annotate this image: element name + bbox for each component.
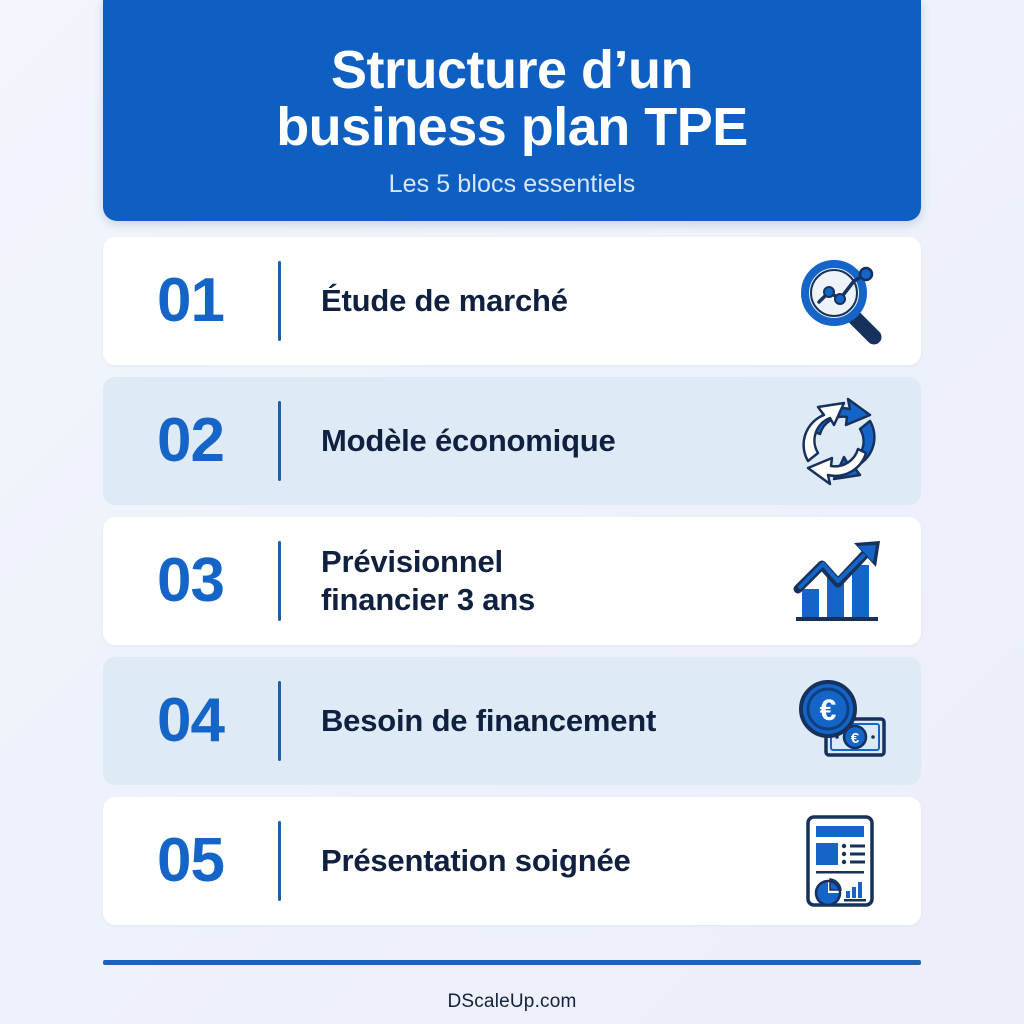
- page-title: Structure d’un business plan TPE: [276, 42, 748, 156]
- row-label: Besoin de financement: [281, 702, 785, 740]
- list-item[interactable]: 03 Prévisionnel financier 3 ans: [103, 517, 921, 645]
- magnifier-chart-icon: [785, 249, 895, 353]
- row-label: Étude de marché: [281, 282, 785, 320]
- svg-text:€: €: [820, 694, 837, 727]
- list-item[interactable]: 01 Étude de marché: [103, 237, 921, 365]
- block-list: 01 Étude de marché 02 Modèle économique: [103, 237, 921, 937]
- row-number: 02: [103, 410, 278, 472]
- svg-text:€: €: [851, 730, 860, 747]
- list-item[interactable]: 05 Présentation soignée: [103, 797, 921, 925]
- row-number: 05: [103, 830, 278, 892]
- header-banner: Structure d’un business plan TPE Les 5 b…: [103, 0, 921, 221]
- footer: DScaleUp.com: [103, 960, 921, 1013]
- list-item[interactable]: 02 Modèle économique: [103, 377, 921, 505]
- row-label: Prévisionnel financier 3 ans: [281, 543, 785, 619]
- cycle-arrows-icon: [785, 389, 895, 493]
- row-number: 01: [103, 270, 278, 332]
- row-number: 04: [103, 690, 278, 752]
- infographic-page: Structure d’un business plan TPE Les 5 b…: [0, 0, 1024, 1024]
- euro-money-icon: € €: [785, 669, 895, 773]
- row-number: 03: [103, 550, 278, 612]
- footer-divider: [103, 960, 921, 965]
- growth-chart-icon: [785, 529, 895, 633]
- page-subtitle: Les 5 blocs essentiels: [389, 170, 636, 199]
- footer-site-label: DScaleUp.com: [447, 991, 576, 1013]
- row-label: Présentation soignée: [281, 842, 785, 880]
- document-report-icon: [785, 809, 895, 913]
- list-item[interactable]: 04 Besoin de financement € €: [103, 657, 921, 785]
- row-label: Modèle économique: [281, 422, 785, 460]
